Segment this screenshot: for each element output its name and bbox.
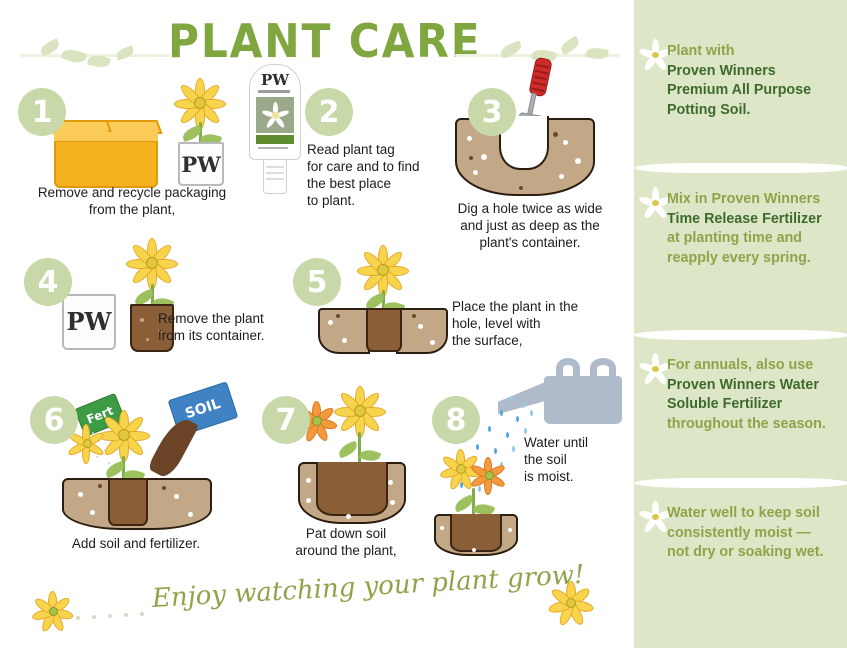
can-handle-icon [556, 358, 580, 378]
plant-care-infographic: PLANT CARE 1 [0, 0, 847, 648]
sidebar-tip-4-text: Water well to keep soil consistently moi… [667, 504, 845, 563]
plant-in-hole-icon [318, 246, 448, 356]
pw-pot-icon: PW [178, 142, 224, 186]
pw-logo: PW [67, 310, 112, 334]
page-title: PLANT CARE [168, 14, 481, 68]
flower-icon [30, 590, 76, 632]
step-number-2: 2 [305, 88, 353, 136]
step-number-3: 3 [468, 88, 516, 136]
step-caption-1: Remove and recycle packaging from the pl… [20, 184, 244, 218]
sidebar-divider [634, 478, 847, 488]
step-number-4: 4 [24, 258, 72, 306]
flower-icon [174, 80, 226, 126]
step-number-8: 8 [432, 396, 480, 444]
tips-sidebar: Plant with Proven Winners Premium All Pu… [632, 0, 847, 648]
plant-tag-icon: PW [249, 64, 303, 194]
flower-icon [356, 246, 410, 294]
footer-text: Enjoy watching your plant grow! [151, 560, 585, 614]
step-number-7: 7 [262, 396, 310, 444]
sidebar-tip-3-text: For annuals, also use Proven Winners Wat… [667, 356, 845, 434]
flower-icon [332, 386, 388, 436]
leaf-icon [559, 36, 582, 56]
plant-in-hole-icon [62, 408, 212, 534]
sidebar-divider [634, 163, 847, 173]
flower-icon [124, 238, 180, 288]
sidebar-divider [634, 330, 847, 340]
pw-logo: PW [181, 154, 220, 175]
plant-in-soil-icon [428, 448, 538, 558]
step-number-6: 6 [30, 396, 78, 444]
empty-pot-icon: PW [62, 294, 116, 350]
leaf-icon [115, 45, 135, 60]
leaf-icon [585, 46, 609, 61]
step-caption-4: Remove the plant from its container. [158, 310, 288, 344]
sidebar-tip-1-text: Plant with Proven Winners Premium All Pu… [667, 42, 845, 120]
can-handle-icon [590, 358, 616, 378]
potted-flower-icon: PW [160, 78, 238, 188]
cardboard-box-icon [52, 120, 162, 190]
step-caption-7: Pat down soil around the plant, [266, 525, 426, 559]
step-caption-3: Dig a hole twice as wide and just as dee… [440, 200, 620, 251]
leaf-icon [61, 47, 88, 66]
sidebar-tip-2-text: Mix in Proven Winners Time Release Ferti… [667, 190, 845, 268]
step-caption-2: Read plant tag for care and to find the … [307, 141, 437, 209]
step-caption-5: Place the plant in the hole, level with … [452, 298, 602, 349]
leaf-icon [337, 441, 360, 459]
step-number-5: 5 [293, 258, 341, 306]
step-caption-6: Add soil and fertilizer. [46, 535, 226, 552]
main-panel: PLANT CARE 1 [0, 0, 632, 648]
step-number-1: 1 [18, 88, 66, 136]
flower-icon [546, 580, 596, 626]
step-caption-8: Water until the soil is moist. [524, 434, 634, 485]
footer: Enjoy watching your plant grow! [0, 572, 632, 642]
pw-logo: PW [261, 73, 289, 88]
